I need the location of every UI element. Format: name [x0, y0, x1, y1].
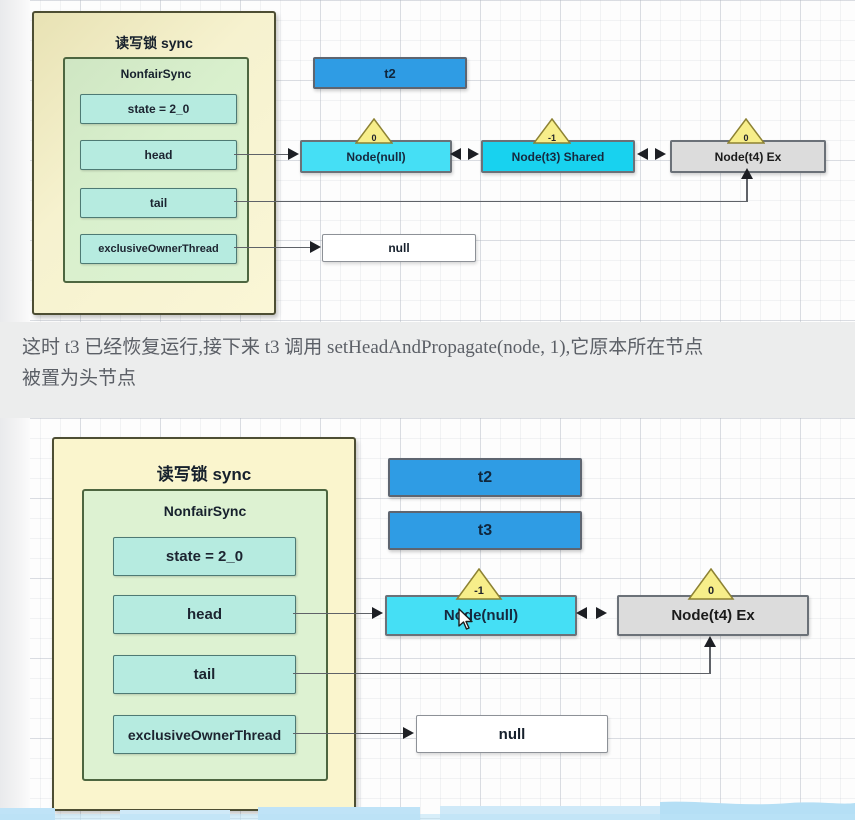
top-inner-title: NonfairSync [65, 67, 247, 81]
top-field-tail: tail [80, 188, 237, 218]
bottom-head-connector-line [293, 613, 373, 615]
top-node-null: Node(null) [300, 140, 452, 173]
bottom-waitstatus-node-null-value: -1 [455, 586, 503, 597]
bottom-owner-arrowhead [403, 727, 414, 739]
left-edge-fade-top [0, 0, 30, 322]
top-link2-arrow-left [637, 148, 648, 160]
bottom-thread-t3: t3 [388, 511, 582, 550]
bottom-wave-decoration [0, 794, 855, 820]
bottom-link1-arrow-left [576, 607, 587, 619]
top-link1-arrow-left [450, 148, 461, 160]
top-owner-arrowhead [310, 241, 321, 253]
top-outer-title: 读写锁 sync [34, 33, 274, 53]
bottom-node-t4-ex: Node(t4) Ex [617, 595, 809, 636]
bottom-tail-arrowhead [704, 636, 716, 647]
bottom-link1-arrow-right [596, 607, 607, 619]
bottom-owner-null-box: null [416, 715, 608, 753]
bottom-tail-connector-vline [709, 645, 711, 673]
top-tail-connector-line [234, 201, 748, 203]
bottom-field-state: state = 2_0 [113, 537, 296, 576]
top-field-state: state = 2_0 [80, 94, 237, 124]
top-waitstatus-node-t3: -1 [533, 118, 571, 144]
bottom-inner-title: NonfairSync [84, 503, 326, 519]
top-field-exclusiveownerthread: exclusiveOwnerThread [80, 234, 237, 264]
top-tail-connector-vline [746, 176, 748, 201]
bottom-waitstatus-node-t4-value: 0 [687, 586, 735, 597]
top-tail-arrowhead [741, 168, 753, 179]
bottom-outer-title: 读写锁 sync [54, 460, 354, 485]
top-thread-t2: t2 [313, 57, 467, 89]
bottom-head-arrowhead [372, 607, 383, 619]
bottom-field-tail: tail [113, 655, 296, 694]
top-link2-arrow-right [655, 148, 666, 160]
left-edge-fade-bottom [0, 418, 30, 820]
bottom-tail-connector-line [293, 673, 711, 675]
top-owner-connector-line [234, 247, 311, 249]
top-node-t3-shared: Node(t3) Shared [481, 140, 635, 173]
top-waitstatus-node-null-value: 0 [355, 134, 393, 143]
top-waitstatus-node-t4-value: 0 [727, 134, 765, 143]
top-waitstatus-node-t3-value: -1 [533, 134, 571, 143]
caption-line-2: 被置为头节点 [22, 363, 837, 394]
bottom-waitstatus-node-null: -1 [455, 568, 503, 600]
top-owner-null-box: null [322, 234, 476, 262]
top-waitstatus-node-null: 0 [355, 118, 393, 144]
caption-text: 这时 t3 已经恢复运行,接下来 t3 调用 setHeadAndPropaga… [22, 332, 837, 412]
bottom-field-exclusiveownerthread: exclusiveOwnerThread [113, 715, 296, 754]
bottom-node-null: Node(null) [385, 595, 577, 636]
bottom-waitstatus-node-t4: 0 [687, 568, 735, 600]
caption-line-1: 这时 t3 已经恢复运行,接下来 t3 调用 setHeadAndPropaga… [22, 332, 837, 363]
mouse-cursor-icon [458, 608, 474, 632]
bottom-owner-connector-line [293, 733, 404, 735]
top-field-head: head [80, 140, 237, 170]
top-head-arrowhead [288, 148, 299, 160]
top-waitstatus-node-t4: 0 [727, 118, 765, 144]
bottom-thread-t2: t2 [388, 458, 582, 497]
bottom-field-head: head [113, 595, 296, 634]
top-link1-arrow-right [468, 148, 479, 160]
top-head-connector-line [234, 154, 289, 156]
